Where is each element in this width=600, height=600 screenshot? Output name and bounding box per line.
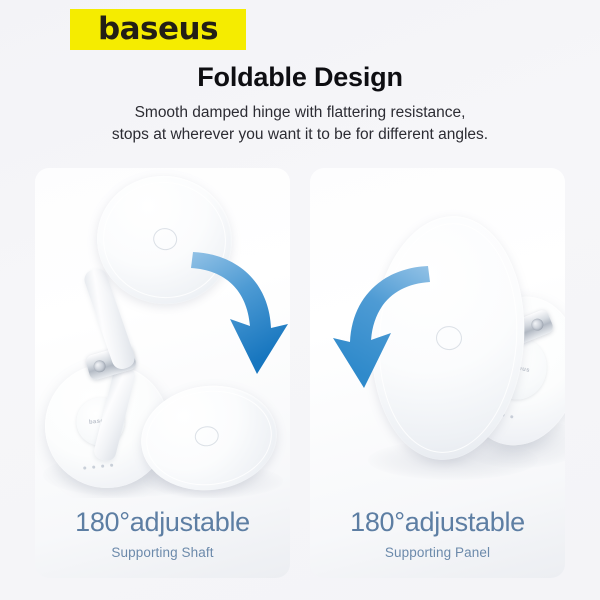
product-illustration-shaft: baseus xyxy=(35,168,290,498)
product-marketing-page: baseus Foldable Design Smooth damped hin… xyxy=(0,0,600,600)
caption-headline: 180°adjustable xyxy=(35,508,290,538)
rotation-arrow-icon xyxy=(326,260,436,410)
product-illustration-panel: baseus xyxy=(310,168,565,498)
led-indicator xyxy=(110,464,113,467)
caption-subtext: Supporting Panel xyxy=(310,545,565,560)
led-indicator xyxy=(510,415,514,419)
led-indicator xyxy=(101,465,104,468)
led-indicator xyxy=(92,465,95,468)
card-caption-panel: 180°adjustable Supporting Panel xyxy=(310,508,565,560)
hinge-pin xyxy=(92,359,107,374)
baseus-logo: baseus xyxy=(70,9,246,50)
page-subtitle-line-2: stops at wherever you want it to be for … xyxy=(0,124,600,146)
caption-subtext: Supporting Shaft xyxy=(35,545,290,560)
led-indicator-row xyxy=(83,464,113,470)
page-subtitle-line-1: Smooth damped hinge with flattering resi… xyxy=(0,102,600,124)
feature-card-supporting-panel: baseus xyxy=(310,168,565,578)
hinge-pin xyxy=(530,317,546,333)
page-subtitle: Smooth damped hinge with flattering resi… xyxy=(0,102,600,147)
led-indicator xyxy=(83,466,86,469)
feature-card-supporting-shaft: baseus xyxy=(35,168,290,578)
page-title: Foldable Design xyxy=(0,62,600,93)
baseus-logo-text: baseus xyxy=(98,14,218,45)
caption-headline: 180°adjustable xyxy=(310,508,565,538)
card-caption-shaft: 180°adjustable Supporting Shaft xyxy=(35,508,290,560)
rotation-arrow-icon xyxy=(185,246,290,396)
